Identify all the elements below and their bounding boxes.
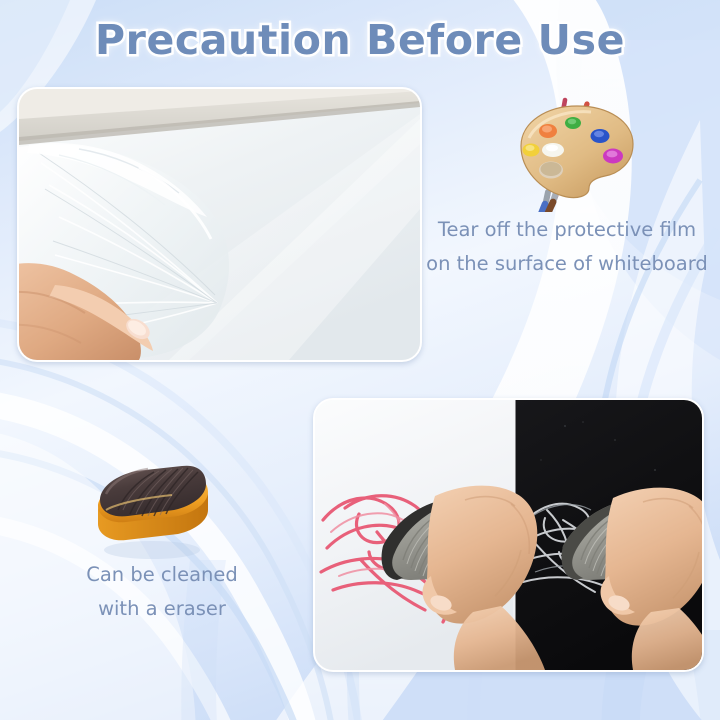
caption-line: with a eraser	[34, 592, 290, 626]
page-title: Precaution Before Use	[0, 16, 720, 64]
film-peel-illustration	[19, 89, 420, 360]
whiteboard-film-peel-photo	[17, 87, 422, 362]
caption-line: Can be cleaned	[34, 558, 290, 592]
palette-board	[521, 106, 633, 198]
paint-palette-icon	[505, 88, 641, 212]
caption-line: on the surface of whiteboard	[414, 247, 720, 281]
infographic-page: Precaution Before Use	[0, 0, 720, 720]
caption-peel-film: Tear off the protective film on the surf…	[414, 213, 720, 281]
eraser-demo-illustration	[315, 400, 702, 670]
caption-clean-eraser: Can be cleaned with a eraser	[34, 558, 290, 626]
caption-line: Tear off the protective film	[414, 213, 720, 247]
whiteboard-eraser-icon	[82, 458, 218, 566]
eraser-cleaning-split-photo	[313, 398, 704, 672]
